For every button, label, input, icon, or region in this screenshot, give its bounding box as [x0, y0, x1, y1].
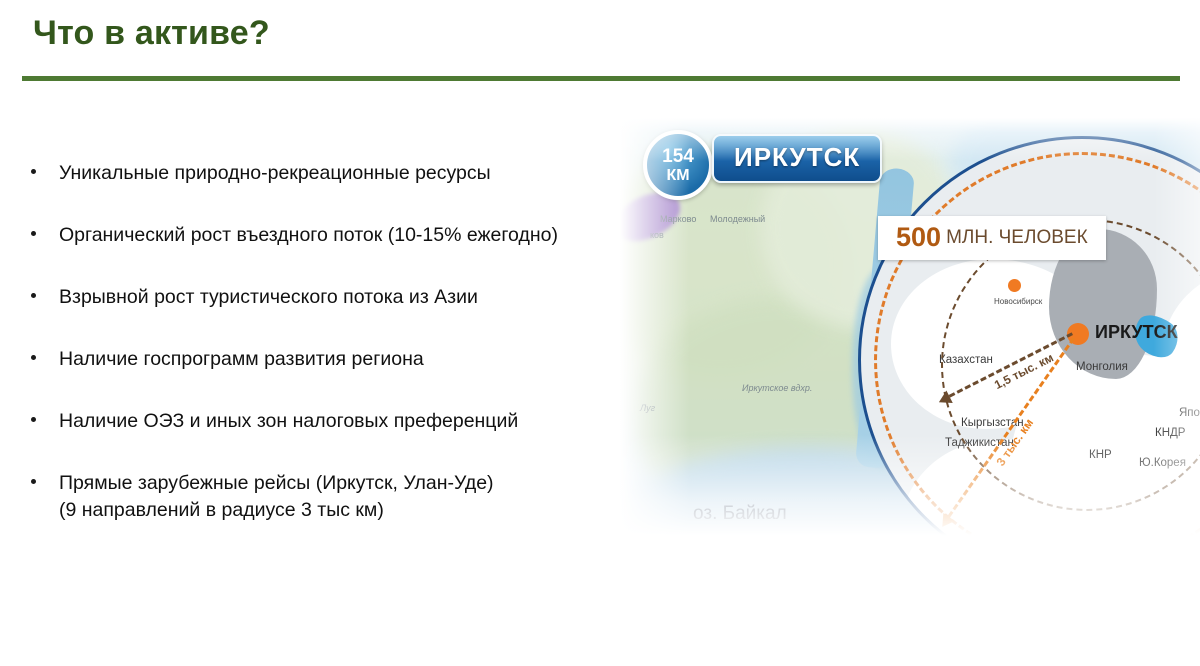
bullet-list: Уникальные природно-рекреационные ресурс…: [14, 160, 634, 559]
list-item: Наличие госпрограмм развития региона: [14, 346, 634, 373]
map-illustration: Марково ков Молодежный Иркутское вдхр. Л…: [620, 118, 1200, 598]
map-toponym: Иркутское вдхр.: [742, 383, 812, 393]
bullet-dot-icon: [31, 479, 36, 484]
list-item-label: Наличие ОЭЗ и иных зон налоговых префере…: [59, 410, 518, 432]
list-item: Наличие ОЭЗ и иных зон налоговых префере…: [14, 408, 634, 435]
population-number: 500: [896, 222, 941, 252]
radius-circle-graphic: Екатеринбург Новосибирск Казахстан Кыргы…: [858, 136, 1200, 584]
bullet-dot-icon: [31, 417, 36, 422]
bullet-dot-icon: [31, 231, 36, 236]
list-item: Органический рост въездного поток (10-15…: [14, 222, 634, 249]
bullet-dot-icon: [31, 169, 36, 174]
city-badge-irkutsk: ИРКУТСК: [712, 134, 882, 183]
list-item-label: Уникальные природно-рекреационные ресурс…: [59, 162, 491, 184]
center-city-label: ИРКУТСК: [1095, 322, 1178, 343]
map-toponym: Марково: [660, 214, 696, 224]
distance-value: 154: [662, 147, 694, 166]
baikalsk-marker-icon: [628, 542, 676, 590]
page-title: Что в активе?: [33, 14, 270, 53]
city-badge-baikalsk: БАЙКАЛЬСК: [677, 554, 825, 584]
slide: Что в активе? Уникальные природно-рекреа…: [0, 0, 1200, 666]
list-item-label: Органический рост въездного поток (10-15…: [59, 224, 558, 246]
list-item-label: Наличие госпрограмм развития региона: [59, 348, 424, 370]
list-item-label: Взрывной рост туристического потока из А…: [59, 286, 478, 308]
distance-badge-154km: 154 КМ: [643, 130, 713, 200]
distance-unit: КМ: [666, 168, 689, 184]
bullet-dot-icon: [31, 355, 36, 360]
list-item-label: Прямые зарубежные рейсы (Иркутск, Улан-У…: [59, 472, 494, 521]
map-toponym: Луг: [640, 403, 655, 413]
title-divider: [22, 76, 1180, 81]
population-unit: МЛН. ЧЕЛОВЕК: [946, 227, 1088, 248]
lake-baikal-label: оз. Байкал: [693, 503, 787, 525]
map-toponym: Молодежный: [710, 214, 765, 224]
bullet-dot-icon: [31, 293, 36, 298]
list-item: Прямые зарубежные рейсы (Иркутск, Улан-У…: [14, 470, 634, 524]
list-item: Взрывной рост туристического потока из А…: [14, 284, 634, 311]
outer-radius-circle: Екатеринбург Новосибирск Казахстан Кыргы…: [858, 136, 1200, 584]
population-banner: 500МЛН. ЧЕЛОВЕК: [878, 216, 1106, 260]
map-toponym: ков: [650, 230, 664, 240]
list-item: Уникальные природно-рекреационные ресурс…: [14, 160, 634, 187]
